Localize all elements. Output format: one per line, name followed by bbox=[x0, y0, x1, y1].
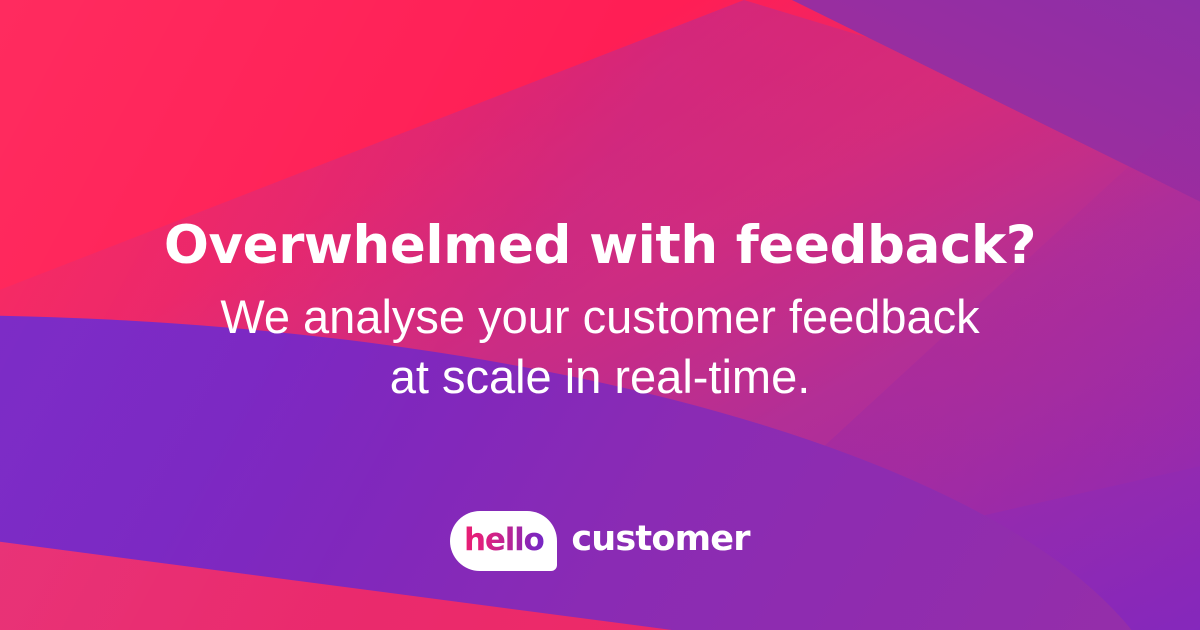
logo-hello-text: hello bbox=[464, 525, 544, 558]
promo-banner: Overwhelmed with feedback? We analyse yo… bbox=[0, 0, 1200, 630]
headline: Overwhelmed with feedback? bbox=[0, 218, 1200, 274]
logo-customer-wordmark: customer bbox=[571, 522, 749, 560]
hello-customer-logo: hello customer bbox=[0, 511, 1200, 571]
subheadline-line-2: at scale in real-time. bbox=[0, 347, 1200, 407]
speech-bubble-icon: hello bbox=[450, 511, 557, 571]
subheadline: We analyse your customer feedback at sca… bbox=[0, 287, 1200, 407]
subheadline-line-1: We analyse your customer feedback bbox=[0, 287, 1200, 347]
banner-content: Overwhelmed with feedback? We analyse yo… bbox=[0, 0, 1200, 630]
